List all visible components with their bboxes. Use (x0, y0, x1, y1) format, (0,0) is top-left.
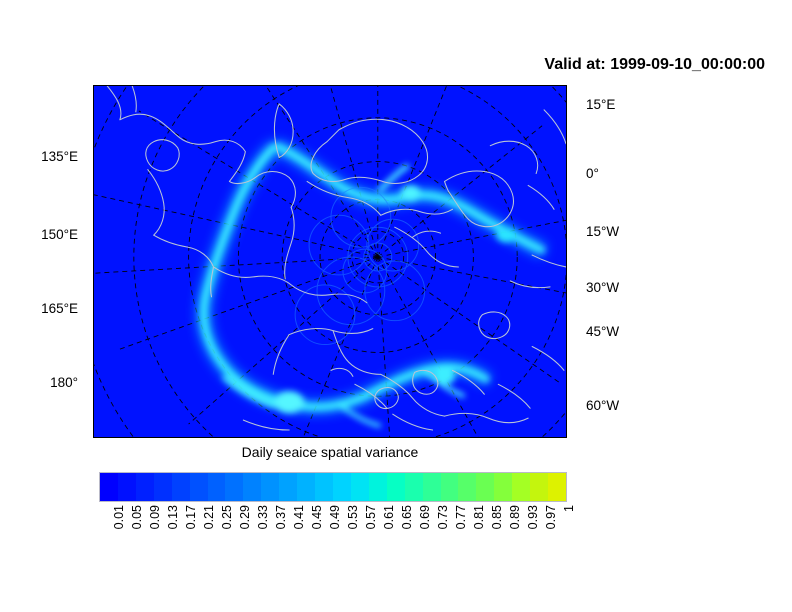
axis-tick-left (93, 158, 94, 160)
axis-tick-right (566, 175, 567, 177)
axis-tick-right (566, 106, 567, 108)
axis-tick-left (93, 236, 94, 238)
colorbar-tick-labels: 0.010.050.090.130.170.210.250.290.330.37… (99, 505, 567, 565)
colorbar-segment (441, 473, 459, 501)
map-plot-panel (93, 85, 567, 438)
axis-tick-left (93, 310, 94, 312)
axis-label-left-1: 150°E (14, 228, 78, 242)
axis-tick-right (566, 233, 567, 235)
axis-label-left-2: 165°E (14, 302, 78, 316)
colorbar-gradient (99, 472, 567, 502)
axis-tick-right (566, 407, 567, 409)
colorbar-tick-label: 0.45 (311, 505, 324, 529)
colorbar-segment (208, 473, 226, 501)
colorbar-segment (476, 473, 494, 501)
colorbar-segment (279, 473, 297, 501)
colorbar-tick-label: 0.85 (491, 505, 504, 529)
colorbar-tick-label: 0.09 (149, 505, 162, 529)
colorbar-segment (190, 473, 208, 501)
colorbar-tick-label: 0.53 (347, 505, 360, 529)
colorbar-segment (387, 473, 405, 501)
colorbar-segment (136, 473, 154, 501)
colorbar (99, 472, 567, 502)
colorbar-tick-label: 0.97 (545, 505, 558, 529)
colorbar-segment (548, 473, 566, 501)
colorbar-segment (261, 473, 279, 501)
axis-tick-right (566, 333, 567, 335)
colorbar-segment (118, 473, 136, 501)
colorbar-segment (243, 473, 261, 501)
colorbar-tick-label: 1 (563, 505, 576, 512)
colorbar-tick-label: 0.17 (185, 505, 198, 529)
colorbar-tick-label: 0.41 (293, 505, 306, 529)
colorbar-segment (225, 473, 243, 501)
colorbar-segment (369, 473, 387, 501)
axis-label-right-1: 0° (586, 167, 599, 181)
map-caption: Daily seaice spatial variance (93, 444, 567, 460)
colorbar-tick-label: 0.13 (167, 505, 180, 529)
page-title: Valid at: 1999-09-10_00:00:00 (455, 56, 765, 74)
colorbar-tick-label: 0.61 (383, 505, 396, 529)
axis-label-right-3: 30°W (586, 281, 619, 295)
colorbar-segment (333, 473, 351, 501)
colorbar-segment (458, 473, 476, 501)
colorbar-segment (172, 473, 190, 501)
colorbar-tick-label: 0.93 (527, 505, 540, 529)
colorbar-tick-label: 0.73 (437, 505, 450, 529)
colorbar-segment (405, 473, 423, 501)
colorbar-segment (154, 473, 172, 501)
colorbar-tick-label: 0.37 (275, 505, 288, 529)
colorbar-tick-label: 0.01 (113, 505, 126, 529)
colorbar-tick-label: 0.89 (509, 505, 522, 529)
map-canvas (94, 86, 566, 437)
colorbar-segment (100, 473, 118, 501)
colorbar-tick-label: 0.05 (131, 505, 144, 529)
colorbar-segment (530, 473, 548, 501)
axis-label-left-0: 135°E (14, 150, 78, 164)
colorbar-segment (423, 473, 441, 501)
colorbar-tick-label: 0.33 (257, 505, 270, 529)
colorbar-tick-label: 0.77 (455, 505, 468, 529)
axis-label-left-3: 180° (14, 376, 78, 390)
colorbar-tick-label: 0.21 (203, 505, 216, 529)
axis-label-right-2: 15°W (586, 225, 619, 239)
colorbar-tick-label: 0.69 (419, 505, 432, 529)
colorbar-tick-label: 0.49 (329, 505, 342, 529)
colorbar-segment (494, 473, 512, 501)
axis-tick-left (93, 384, 94, 386)
colorbar-tick-label: 0.57 (365, 505, 378, 529)
colorbar-segment (351, 473, 369, 501)
axis-label-right-5: 60°W (586, 399, 619, 413)
colorbar-tick-label: 0.65 (401, 505, 414, 529)
colorbar-segment (315, 473, 333, 501)
colorbar-tick-label: 0.25 (221, 505, 234, 529)
axis-label-right-4: 45°W (586, 325, 619, 339)
colorbar-segment (297, 473, 315, 501)
axis-tick-right (566, 289, 567, 291)
colorbar-segment (512, 473, 530, 501)
colorbar-tick-label: 0.81 (473, 505, 486, 529)
axis-label-right-0: 15°E (586, 98, 615, 112)
colorbar-tick-label: 0.29 (239, 505, 252, 529)
